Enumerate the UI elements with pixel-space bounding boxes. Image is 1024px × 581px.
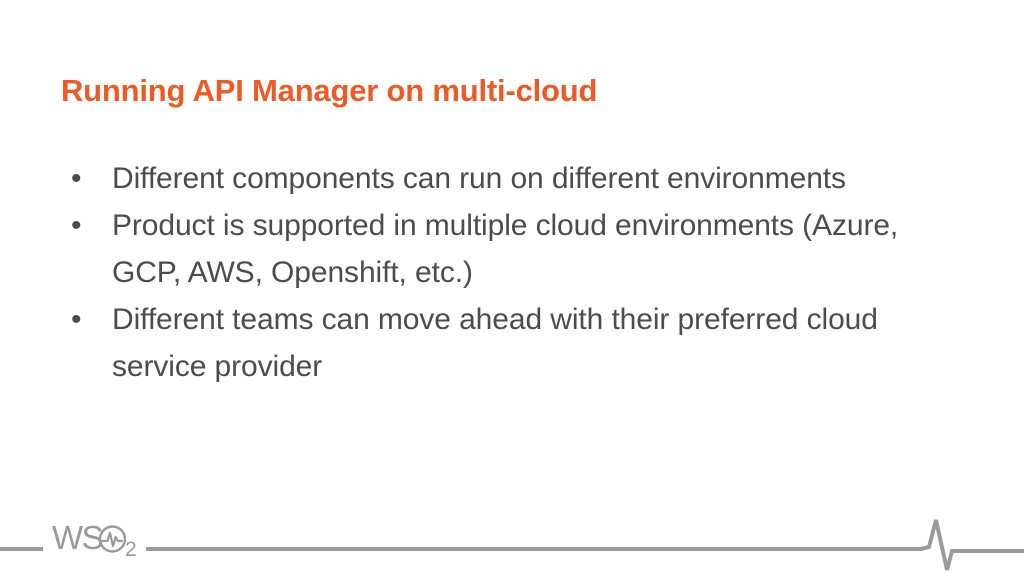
list-item: • Product is supported in multiple cloud…: [62, 202, 942, 296]
wso2-logo: WS 2: [52, 517, 144, 561]
bullet-marker-icon: •: [71, 296, 87, 343]
list-item-text: Different teams can move ahead with thei…: [112, 296, 942, 390]
list-item: • Different teams can move ahead with th…: [62, 296, 942, 390]
slide: Running API Manager on multi-cloud • Dif…: [0, 0, 1024, 576]
list-item-text: Product is supported in multiple cloud e…: [112, 202, 942, 296]
list-item-text: Different components can run on differen…: [112, 155, 942, 202]
svg-text:WS: WS: [52, 519, 103, 556]
bullet-list: • Different components can run on differ…: [62, 155, 942, 390]
bullet-marker-icon: •: [71, 202, 87, 249]
heartbeat-pulse-icon: [895, 514, 1024, 576]
svg-text:2: 2: [125, 538, 137, 561]
slide-footer: WS 2: [0, 514, 1024, 576]
footer-rule-right: [146, 547, 903, 551]
list-item: • Different components can run on differ…: [62, 155, 942, 202]
bullet-marker-icon: •: [71, 155, 87, 202]
page-title: Running API Manager on multi-cloud: [61, 73, 961, 109]
footer-rule-left: [0, 547, 43, 551]
